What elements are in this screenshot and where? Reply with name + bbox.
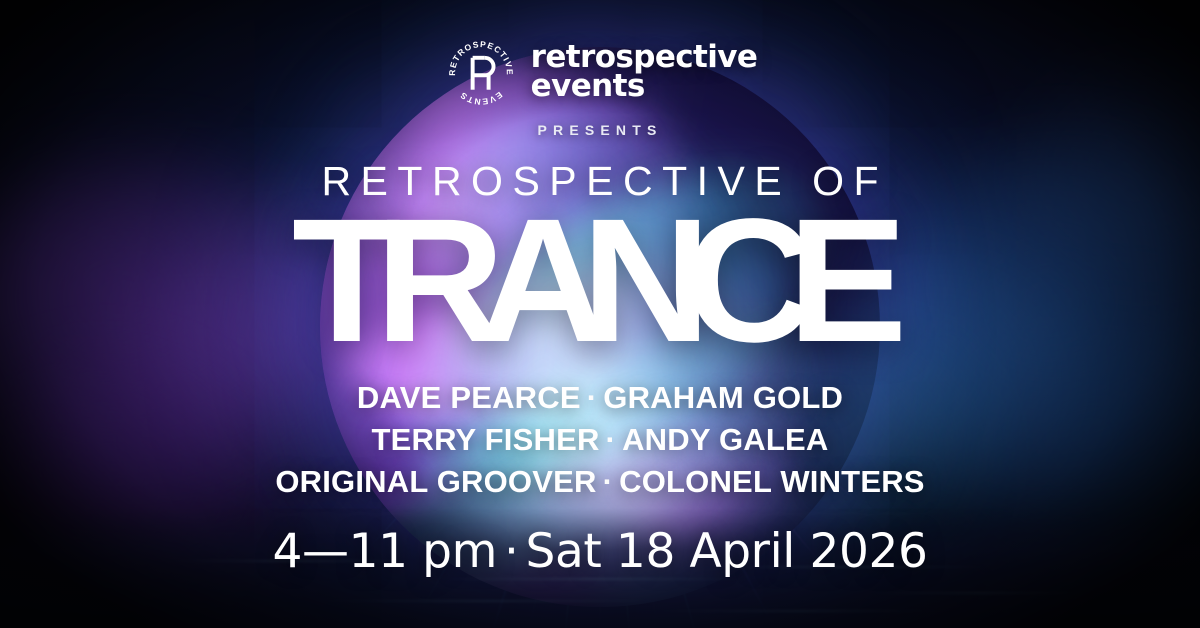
retrospective-events-wordmark: retrospective events (531, 43, 758, 103)
presents-label: PRESENTS (537, 122, 662, 138)
artist-name: GRAHAM GOLD (603, 380, 843, 415)
dateline-separator: · (504, 524, 519, 579)
lineup-separator: · (587, 380, 598, 415)
headline-main-title: TRANCE (319, 201, 881, 363)
lineup-separator: · (606, 422, 617, 457)
event-time: 4—11 pm (273, 524, 497, 579)
artist-name: DAVE PEARCE (357, 380, 581, 415)
artist-lineup: DAVE PEARCE·GRAHAM GOLDTERRY FISHER·ANDY… (275, 377, 924, 503)
brand-header: RETROSPECTIVE EVENTS retrospective (443, 36, 758, 110)
retrospective-events-badge-logo: RETROSPECTIVE EVENTS (443, 35, 519, 111)
artist-name: ANDY GALEA (622, 422, 828, 457)
lineup-separator: · (603, 464, 614, 499)
poster-content: RETROSPECTIVE EVENTS retrospective (0, 0, 1200, 628)
wordmark-line-2: events (531, 72, 758, 101)
lineup-row: DAVE PEARCE·GRAHAM GOLD (275, 377, 924, 419)
artist-name: TERRY FISHER (372, 422, 600, 457)
artist-name: COLONEL WINTERS (619, 464, 925, 499)
lineup-row: ORIGINAL GROOVER·COLONEL WINTERS (275, 461, 924, 503)
event-date: Sat 18 April 2026 (526, 524, 928, 579)
event-date-time: 4—11 pm·Sat 18 April 2026 (273, 524, 928, 579)
artist-name: ORIGINAL GROOVER (275, 464, 596, 499)
event-poster: RETROSPECTIVE EVENTS retrospective (0, 0, 1200, 628)
lineup-row: TERRY FISHER·ANDY GALEA (275, 419, 924, 461)
svg-text:EVENTS: EVENTS (457, 90, 504, 107)
